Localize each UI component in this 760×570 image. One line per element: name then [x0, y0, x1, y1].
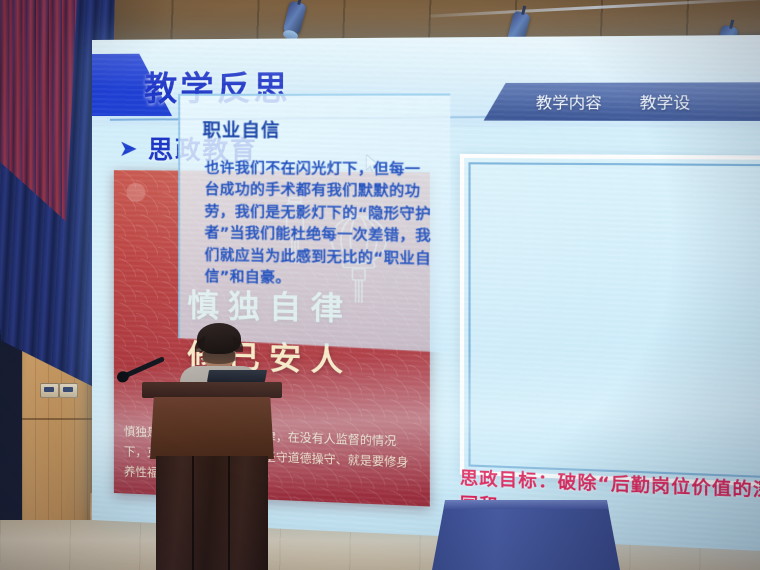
panel-seam	[22, 418, 94, 420]
panel-heading: 职业自信	[203, 116, 281, 143]
panel-inner-border	[468, 162, 760, 480]
slide-content-panel	[460, 154, 760, 489]
podium-seam	[228, 456, 230, 570]
nav-item-teaching-design[interactable]: 教学设	[640, 90, 691, 112]
podium-seam	[192, 456, 194, 570]
nav-item-teaching-content[interactable]: 教学内容	[536, 91, 602, 113]
wall-switch-plate[interactable]	[40, 383, 59, 398]
slide-nav: 教学内容 教学设	[484, 82, 760, 121]
screenshot-root: 教学反思 ➤ 思政教育 教学内容 教学设	[0, 0, 760, 570]
podium-front-face	[150, 397, 274, 459]
bullet-arrow-icon: ➤	[120, 136, 137, 161]
podium-top-surface	[142, 382, 282, 398]
panel-body-text: 也许我们不在闪光灯下，但每一台成功的手术都有我们默默的功劳，我们是无影灯下的“隐…	[205, 159, 435, 294]
podium-column	[156, 456, 268, 570]
podium	[148, 382, 276, 570]
stage-monitor-speaker	[432, 500, 620, 570]
podium-laptop	[207, 370, 267, 382]
wall-switch-plate[interactable]	[59, 383, 78, 398]
